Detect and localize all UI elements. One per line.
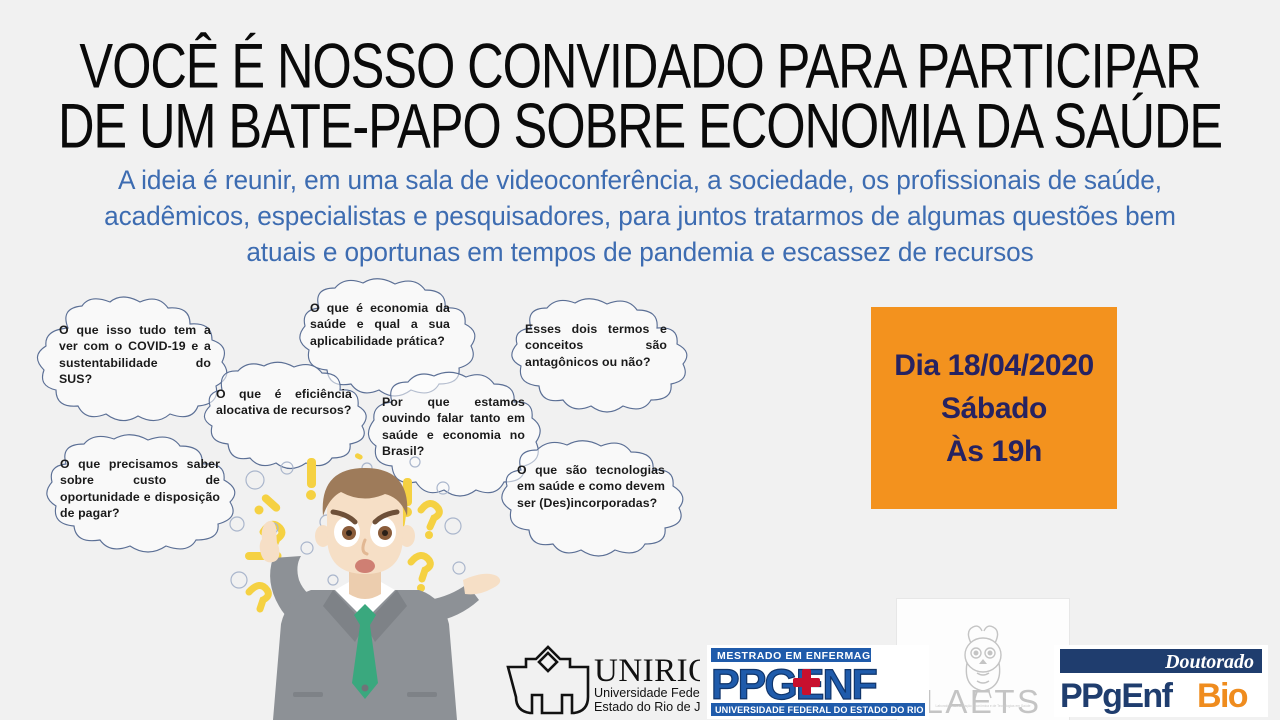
logo-ppgenfbio: Doutorado PPgEnf Bio [1054,645,1268,717]
title-line-1: VOCÊ É NOSSO CONVIDADO PARA PARTICIPAR [51,34,1229,98]
ppgenfbio-name-part2: Bio [1197,677,1248,715]
ppgenf-logo-svg: MESTRADO EM ENFERMAGEM PPGENF UNIVERSIDA… [707,645,929,719]
unirio-name: UNIRIO [594,653,700,689]
ppgenfbio-name-part1: PPgEnf [1060,677,1174,715]
event-weekday: Sábado [941,387,1047,430]
poster-subtitle: A ideia é reunir, em uma sala de videoco… [36,162,1244,270]
poster-title: VOCÊ É NOSSO CONVIDADO PARA PARTICIPAR D… [0,34,1280,150]
bubble-custo-oportunidade-text: O que precisamos saber sobre custo de op… [60,456,220,522]
ppgenfbio-banner: Doutorado [1164,651,1254,673]
unirio-logo-svg: UNIRIO Universidade Federal do Estado do… [500,645,700,717]
bubble-tecnologias: O que são tecnologias em saúde e como de… [487,442,692,560]
poster-canvas: VOCÊ É NOSSO CONVIDADO PARA PARTICIPAR D… [0,0,1280,720]
bubble-economia-saude-text: O que é economia da saúde e qual a sua a… [310,300,450,349]
logo-ppgenf: MESTRADO EM ENFERMAGEM PPGENF UNIVERSIDA… [707,645,929,719]
unirio-sub-2: Estado do Rio de Janeiro [594,700,700,714]
unirio-sub-1: Universidade Federal do [594,686,700,700]
title-line-2: DE UM BATE-PAPO SOBRE ECONOMIA DA SAÚDE [51,94,1229,158]
laets-name: LAETS [924,683,1041,720]
bubble-eficiencia-text: O que é eficiência alocativa de recursos… [216,386,352,419]
ppgenf-bottom-banner: UNIVERSIDADE FEDERAL DO ESTADO DO RIO DE… [715,705,929,715]
confused-businessman-illustration [215,440,515,720]
ppgenfbio-logo-svg: Doutorado PPgEnf Bio [1054,645,1268,717]
bubble-covid-sus-text: O que isso tudo tem a ver com o COVID-19… [59,322,211,388]
unirio-mark-icon [508,647,588,713]
subtitle-line-3: atuais e oportunas em tempos de pandemia… [54,234,1226,270]
event-date-box: Dia 18/04/2020 Sábado Às 19h [871,307,1117,509]
event-date: Dia 18/04/2020 [894,344,1094,387]
subtitle-line-1: A ideia é reunir, em uma sala de videoco… [54,162,1226,198]
businessman-svg [215,440,515,720]
subtitle-line-2: acadêmicos, especialistas e pesquisadore… [54,198,1226,234]
bubble-termos-conceitos-text: Esses dois termos e conceitos são antagô… [525,321,667,370]
event-time: Às 19h [946,430,1042,473]
bubble-tecnologias-text: O que são tecnologias em saúde e como de… [517,462,665,511]
logo-unirio: UNIRIO Universidade Federal do Estado do… [500,645,700,717]
